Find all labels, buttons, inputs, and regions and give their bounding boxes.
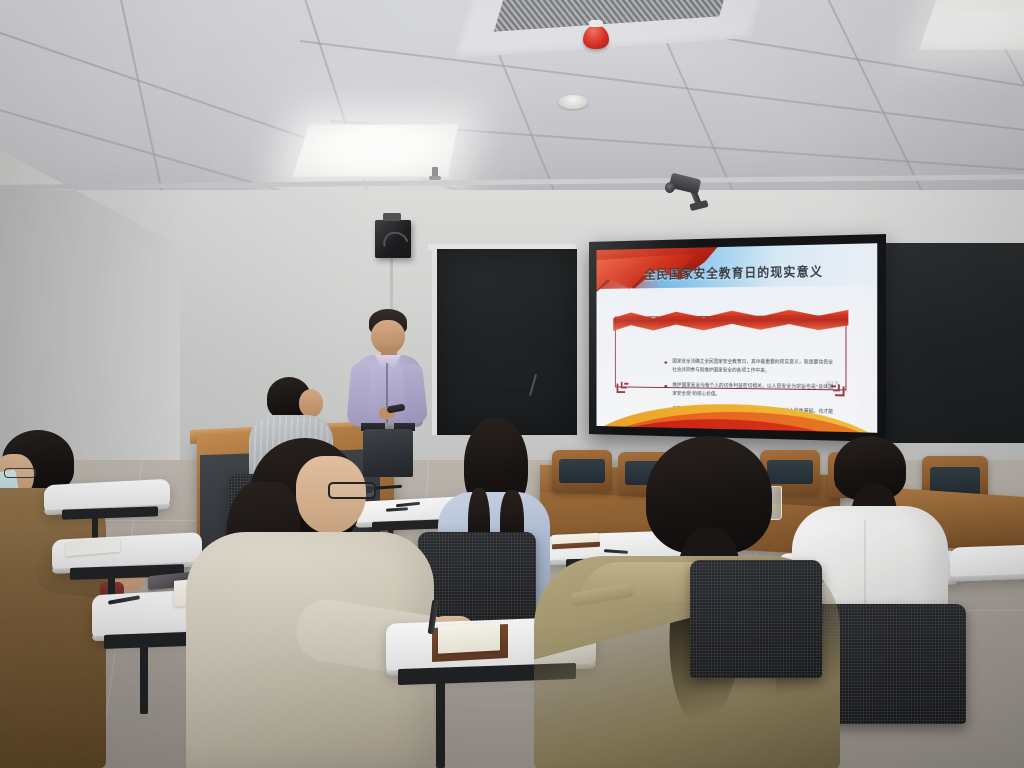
desk-leg — [436, 682, 445, 768]
blackboard — [880, 243, 1024, 443]
led-ceiling-panel — [919, 0, 1024, 49]
presentation-slide: 全民国家安全教育日的现实意义 国家安全法确立全民国家安全教育日，其中最重要的现实… — [596, 243, 877, 433]
fire-alarm-bell-icon — [583, 25, 609, 49]
slide-bottom-waves — [596, 374, 877, 433]
smoke-detector-icon — [558, 95, 588, 109]
sprinkler-head-icon — [432, 167, 438, 179]
glasses-icon — [328, 482, 376, 499]
glasses-icon — [4, 468, 36, 478]
attendee-head — [299, 389, 323, 417]
slide-bullet: 国家安全法确立全民国家安全教育日，其中最重要的现实意义，就是要动员全社会共同参与… — [665, 358, 834, 377]
desk-leg — [140, 644, 148, 714]
projection-screen[interactable]: 全民国家安全教育日的现实意义 国家安全法确立全民国家安全教育日，其中最重要的现实… — [589, 234, 886, 442]
attendee-cream-coat — [200, 438, 470, 768]
office-chair[interactable] — [690, 560, 822, 678]
student-desk — [950, 544, 1024, 581]
security-camera-icon — [668, 168, 714, 214]
classroom-photo: 全民国家安全教育日的现实意义 国家安全法确立全民国家安全教育日，其中最重要的现实… — [0, 0, 1024, 768]
blackboard — [432, 249, 577, 435]
notebook — [438, 622, 500, 653]
attendee-torso — [0, 488, 106, 768]
